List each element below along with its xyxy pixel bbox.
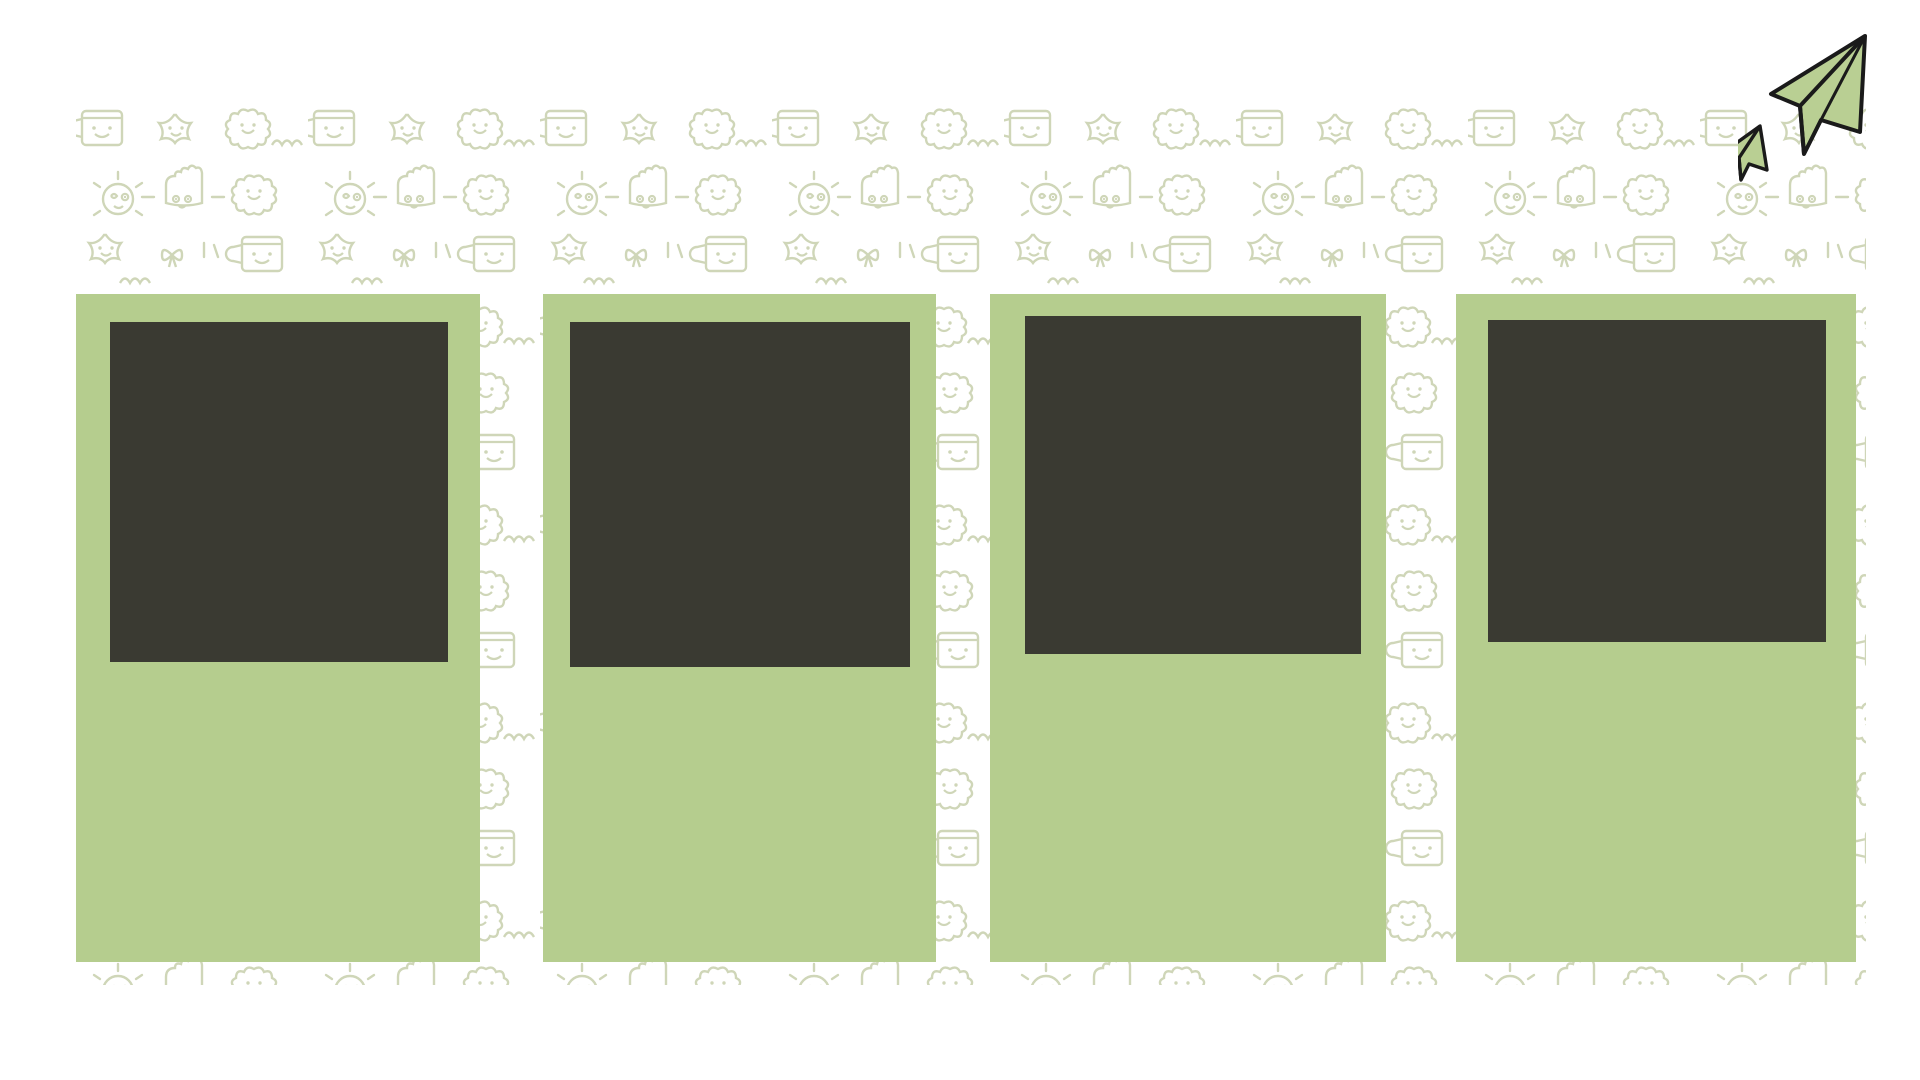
developer-photo <box>1488 320 1826 642</box>
developer-photo <box>1025 316 1361 654</box>
developer-card-list <box>0 0 1920 1080</box>
developer-info <box>990 692 1386 702</box>
developer-photo <box>110 322 448 662</box>
developer-photo <box>570 322 910 667</box>
developer-info <box>1456 666 1856 676</box>
developer-card[interactable] <box>990 294 1386 962</box>
paper-plane-icon <box>1771 36 1865 154</box>
paper-plane-decoration-group <box>1738 28 1898 188</box>
paper-plane-small-icon <box>1738 126 1767 180</box>
developer-card[interactable] <box>1456 294 1856 962</box>
developer-card[interactable] <box>76 294 480 962</box>
developer-info <box>543 702 936 712</box>
developer-card[interactable] <box>543 294 936 962</box>
developer-info <box>76 676 480 686</box>
